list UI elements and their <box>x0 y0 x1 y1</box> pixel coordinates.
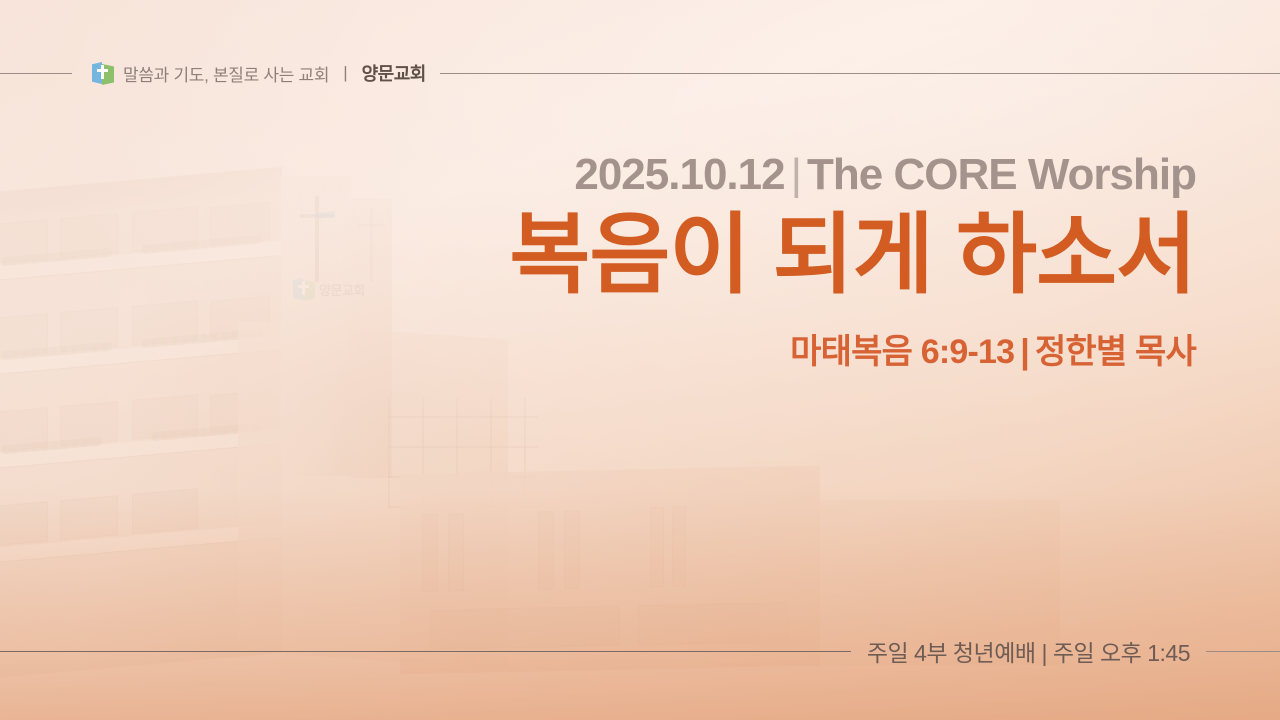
scripture-reference: 마태복음 6:9-13 <box>790 333 1014 371</box>
church-logo-icon <box>92 61 114 85</box>
header-bar: 말씀과 기도, 본질로 사는 교회 | 양문교회 <box>0 56 1280 90</box>
service-date: 2025.10.12 <box>574 150 784 199</box>
service-time: 주일 오후 1:45 <box>1053 640 1190 666</box>
sub-separator: | <box>1020 333 1029 371</box>
worship-series: The CORE Worship <box>807 150 1196 199</box>
footer-rule-left <box>0 651 851 652</box>
footer-bar: 주일 4부 청년예배 | 주일 오후 1:45 <box>0 636 1280 666</box>
kicker-separator: | <box>791 150 801 199</box>
service-name: 주일 4부 청년예배 <box>867 640 1036 666</box>
church-name: 양문교회 <box>362 60 426 86</box>
sermon-title: 복음이 되게 하소서 <box>356 205 1196 305</box>
header-rule-right <box>440 73 1280 74</box>
brand-separator: | <box>343 63 347 83</box>
main-content: 2025.10.12|The CORE Worship 복음이 되게 하소서 마… <box>356 150 1196 373</box>
brand-tagline: 말씀과 기도, 본질로 사는 교회 <box>123 61 329 86</box>
footer-separator: | <box>1041 640 1046 666</box>
header-rule-left <box>0 73 72 74</box>
worship-slide: 양문교회 말씀과 기도, 본질로 사는 교회 | 양문교회 <box>0 0 1280 720</box>
footer-rule-right <box>1206 651 1280 652</box>
scripture-speaker-line: 마태복음 6:9-13|정한별 목사 <box>356 324 1196 373</box>
photo-bottom-vignette <box>0 490 1280 720</box>
speaker-name: 정한별 목사 <box>1035 333 1196 371</box>
brand-block: 말씀과 기도, 본질로 사는 교회 | 양문교회 <box>92 60 426 86</box>
footer-info: 주일 4부 청년예배 | 주일 오후 1:45 <box>867 634 1190 668</box>
kicker-line: 2025.10.12|The CORE Worship <box>356 150 1196 199</box>
